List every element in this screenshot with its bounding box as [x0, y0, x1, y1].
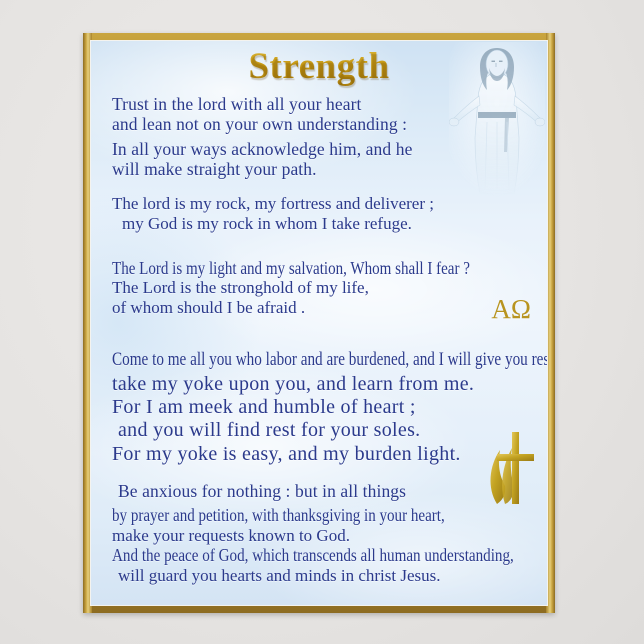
page-title: Strength — [91, 45, 547, 88]
verse-block-proverbs: Trust in the lord with all your heart an… — [112, 94, 412, 179]
verse-line: Come to me all you who labor and are bur… — [112, 349, 548, 371]
verse-line: will guard you hearts and minds in chris… — [112, 566, 548, 586]
verse-line: take my yoke upon you, and learn from me… — [112, 373, 548, 396]
verse-line: The lord is my rock, my fortress and del… — [112, 194, 434, 214]
verse-line: Be anxious for nothing : but in all thin… — [112, 481, 548, 501]
verse-line: my God is my rock in whom I take refuge. — [112, 214, 434, 234]
verse-line: make your requests known to God. — [112, 526, 548, 546]
verse-line: and lean not on your own understanding : — [112, 114, 412, 134]
verse-line: and you will find rest for your soles. — [112, 419, 548, 442]
verse-line: In all your ways acknowledge him, and he — [112, 139, 412, 159]
wall-background: Strength — [0, 0, 644, 644]
verse-line: of whom should I be afraid . — [112, 298, 528, 318]
verse-line: by prayer and petition, with thanksgivin… — [112, 505, 523, 525]
verse-line: Trust in the lord with all your heart — [112, 94, 412, 114]
verse-block-psalm27: The Lord is my light and my salvation, W… — [112, 258, 528, 318]
verse-block-psalm18: The lord is my rock, my fortress and del… — [112, 194, 434, 233]
verse-line: And the peace of God, which transcends a… — [112, 545, 514, 566]
poster-canvas: Strength — [90, 40, 548, 606]
verse-line: For my yoke is easy, and my burden light… — [112, 443, 548, 466]
verse-line: The Lord is my light and my salvation, W… — [112, 258, 470, 278]
poster-frame: Strength — [83, 33, 555, 613]
verse-line: The Lord is the stronghold of my life, — [112, 278, 528, 298]
verse-line: For I am meek and humble of heart ; — [112, 396, 548, 419]
verse-block-philippians: Be anxious for nothing : but in all thin… — [112, 481, 548, 586]
verse-block-matthew: Come to me all you who labor and are bur… — [112, 349, 548, 466]
verse-line: will make straight your path. — [112, 159, 412, 179]
